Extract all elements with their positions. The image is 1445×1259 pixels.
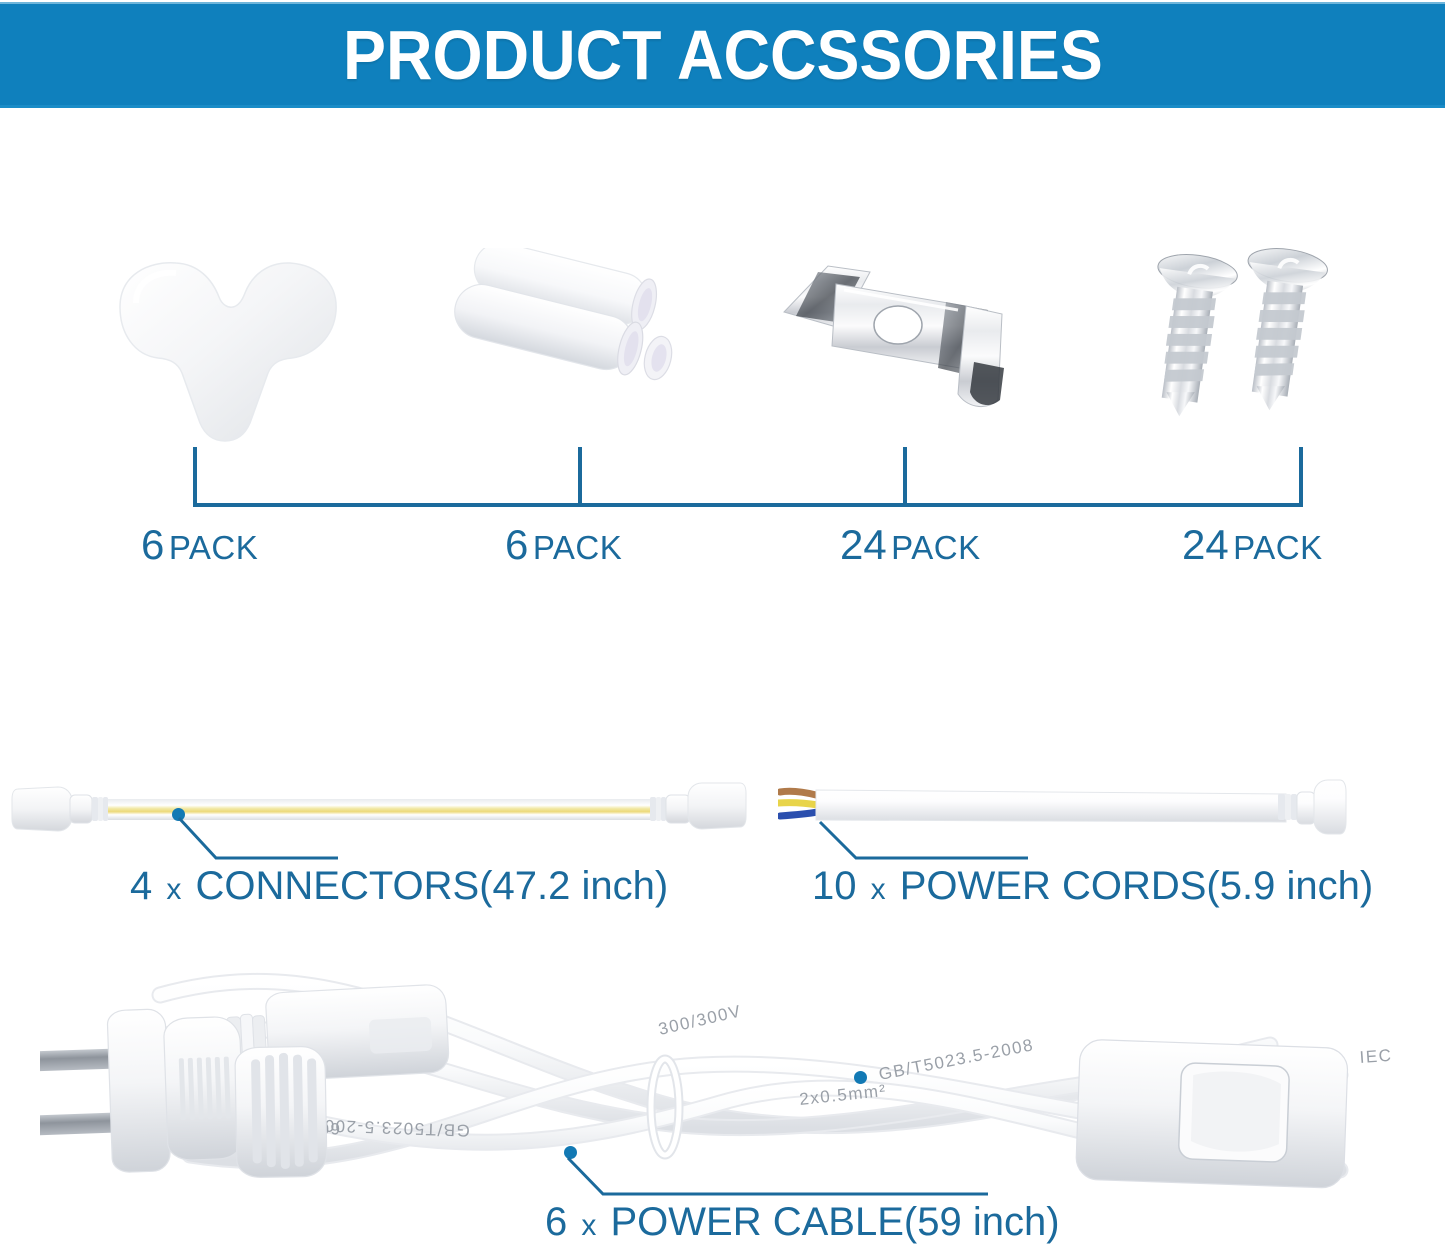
pack-qty: 24 — [1182, 521, 1229, 568]
product-image-screws — [1140, 245, 1350, 435]
pack-label-screws: 24 PACK — [1182, 524, 1323, 566]
power-cable-text: POWER CABLE(59 inch) — [611, 1200, 1060, 1244]
screws-icon — [1140, 245, 1350, 435]
bracket-tick-4 — [1299, 447, 1303, 505]
leader-line-power-cable — [0, 0, 1100, 1220]
power-cable-multiplier: x — [578, 1209, 599, 1242]
label-power-cable: 6 x POWER CABLE(59 inch) — [545, 1202, 1060, 1242]
cable-marking-iec: IEC — [1359, 1046, 1393, 1067]
pack-unit: PACK — [1233, 529, 1322, 566]
power-cable-qty: 6 — [545, 1200, 567, 1244]
